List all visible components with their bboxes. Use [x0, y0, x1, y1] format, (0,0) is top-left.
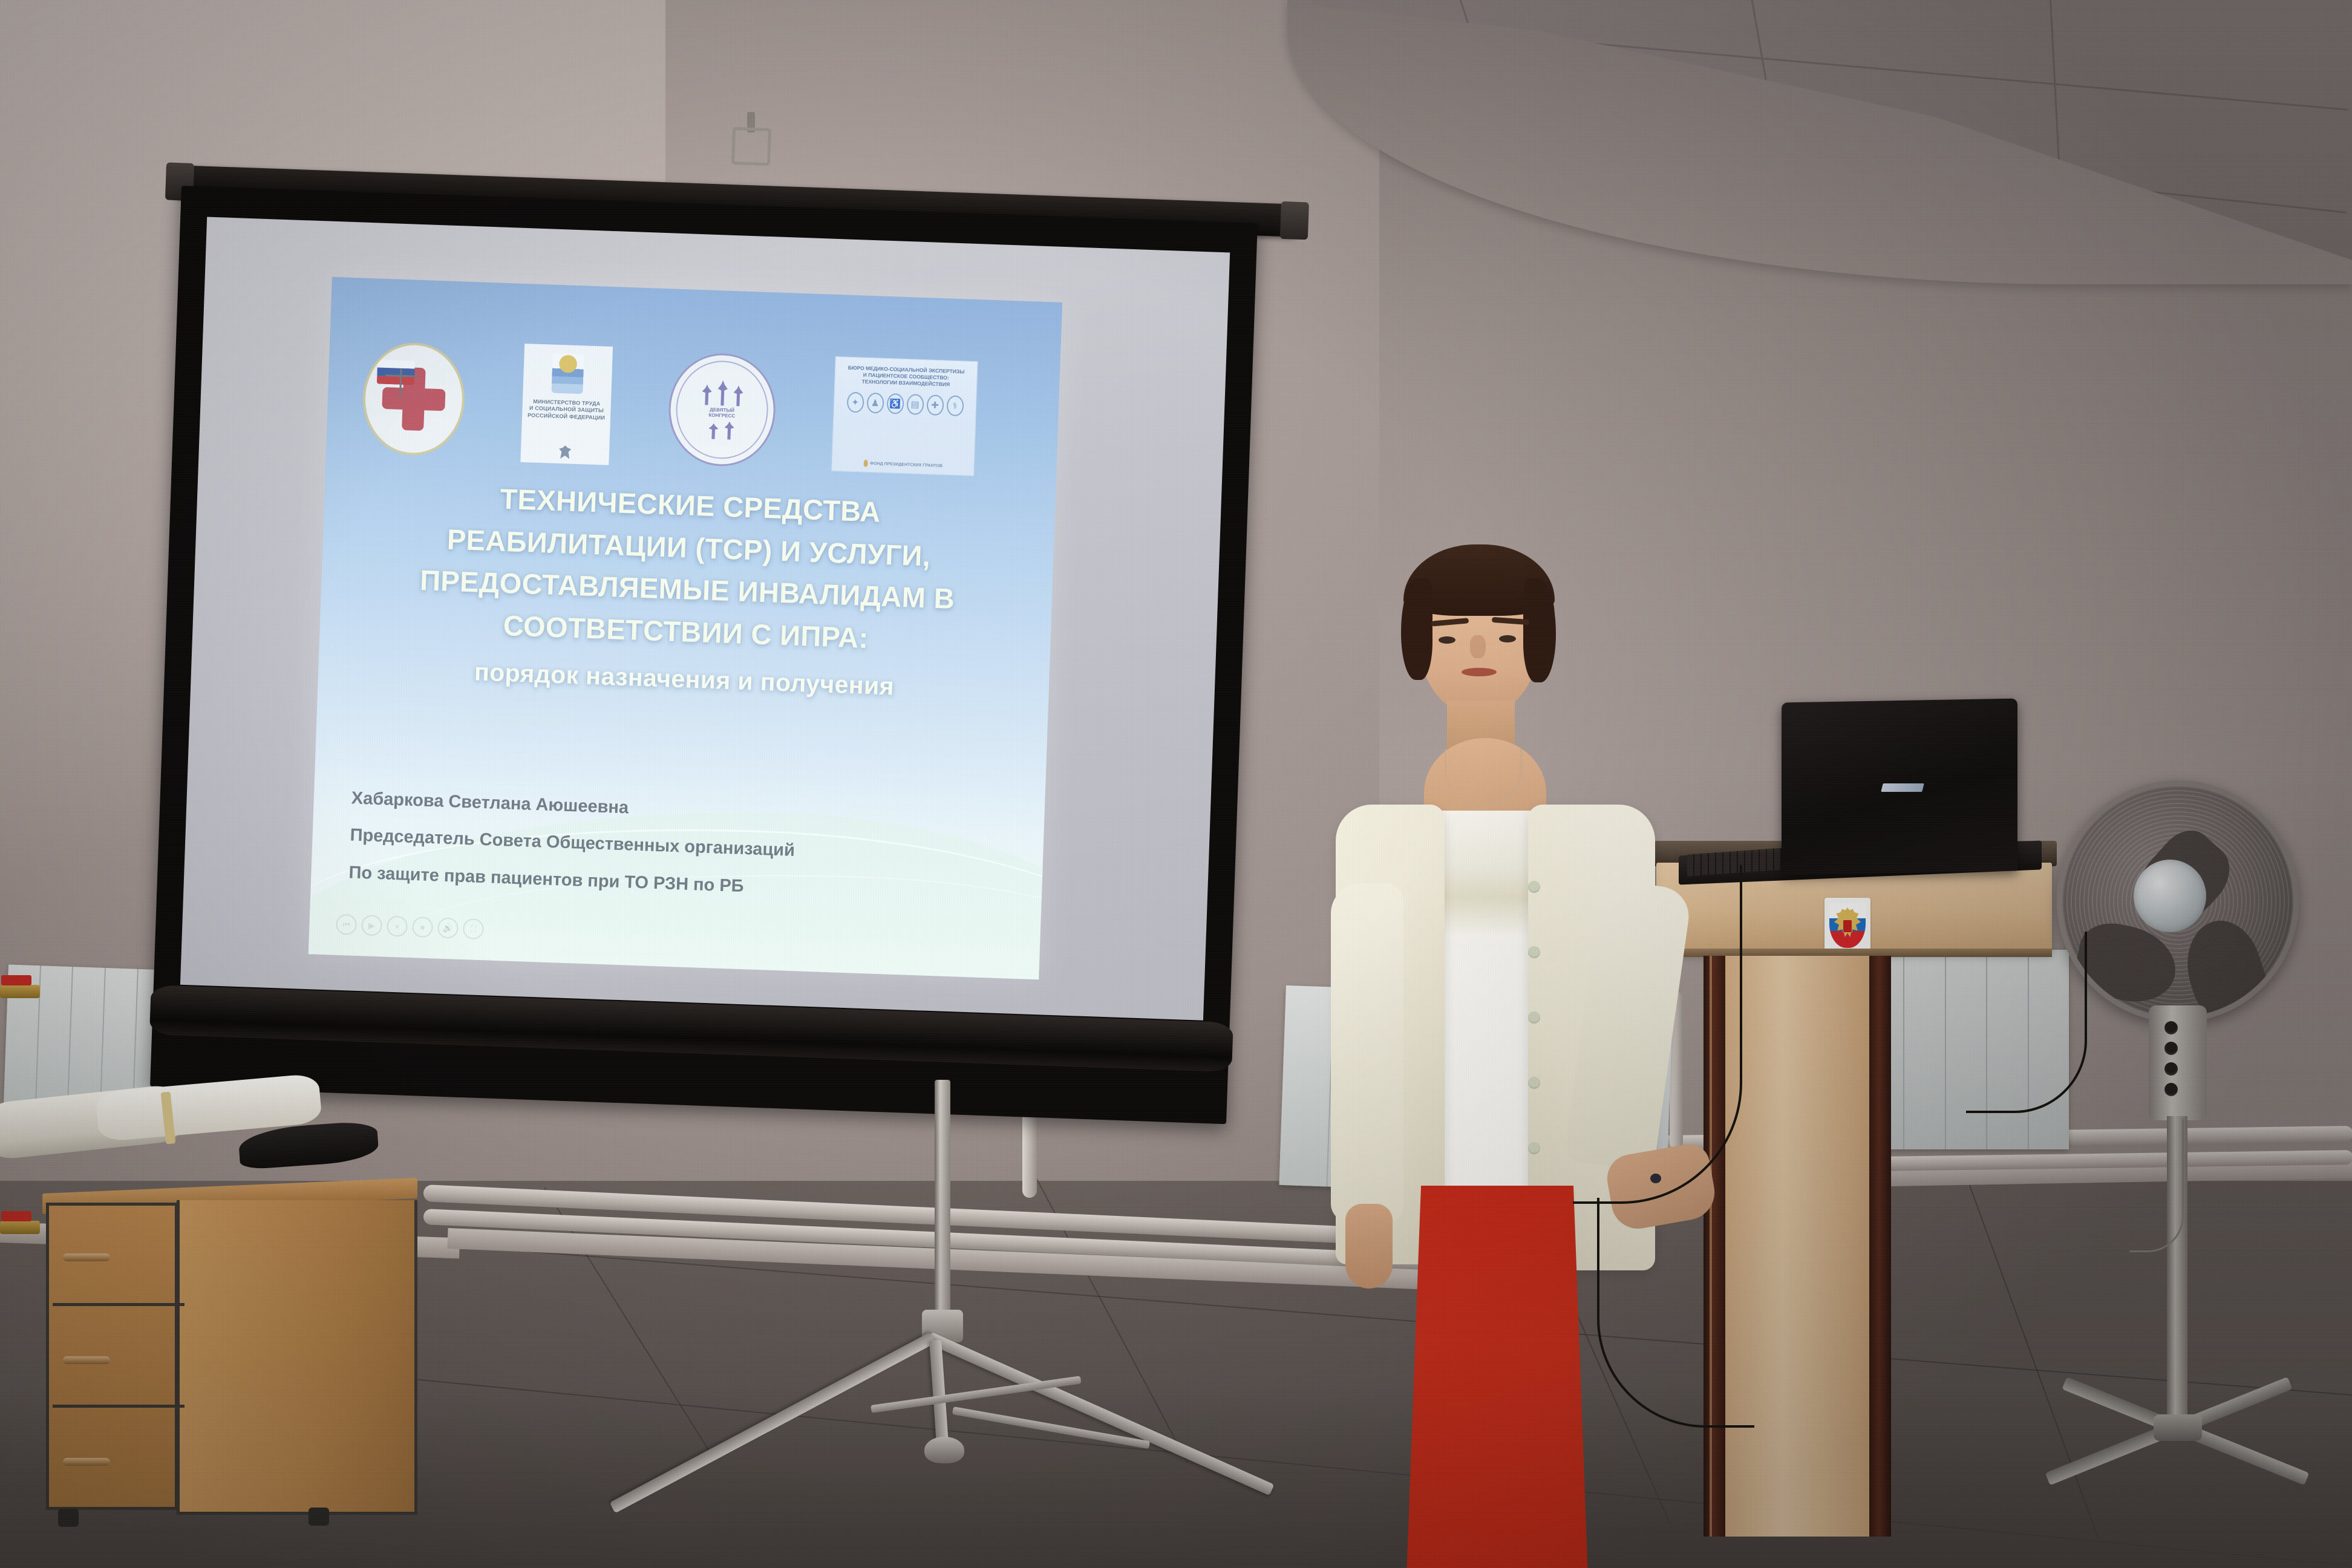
skirt	[1391, 1186, 1603, 1568]
drawer-handle[interactable]	[63, 1253, 110, 1261]
fan-control-neck[interactable]	[2149, 1005, 2207, 1120]
slide-logo-row: МИНИСТЕРСТВО ТРУДА И СОЦИАЛЬНОЙ ЗАЩИТЫ Р…	[361, 332, 1024, 486]
fan-base-hub	[2154, 1414, 2202, 1441]
conference-room-photo: МИНИСТЕРСТВО ТРУДА И СОЦИАЛЬНОЙ ЗАЩИТЫ Р…	[0, 0, 2352, 1568]
pause-icon[interactable]: ⏸	[387, 916, 408, 937]
laptop-brand-badge	[1881, 783, 1924, 792]
eye	[1439, 636, 1455, 644]
cabinet-caster	[309, 1508, 329, 1526]
cabinet-caster	[58, 1509, 79, 1527]
fan-power-cord	[2129, 1119, 2184, 1252]
screen-end-cap	[1280, 201, 1309, 240]
fan-speed-button[interactable]	[2164, 1021, 2178, 1034]
nose	[1470, 635, 1486, 658]
projection-screen: МИНИСТЕРСТВО ТРУДА И СОЦИАЛЬНОЙ ЗАЩИТЫ Р…	[175, 154, 1325, 1146]
cardigan-button	[1528, 1077, 1540, 1089]
drawer-cabinet[interactable]	[42, 1186, 417, 1524]
ministry-mark-icon	[551, 353, 584, 394]
left-hand	[1345, 1204, 1393, 1289]
stop-icon[interactable]: ⏹	[412, 916, 433, 938]
drawer-handle[interactable]	[63, 1458, 110, 1466]
drawer-handle[interactable]	[63, 1356, 110, 1364]
play-icon[interactable]: ▶	[361, 915, 382, 936]
wheelchair-icon: ♿	[886, 393, 904, 414]
fan-speed-button[interactable]	[2164, 1042, 2178, 1055]
cabinet-front-panel	[177, 1200, 417, 1515]
screen-surface: МИНИСТЕРСТВО ТРУДА И СОЦИАЛЬНОЙ ЗАЩИТЫ Р…	[180, 217, 1230, 1021]
mouth	[1462, 668, 1497, 676]
cardigan-button	[1528, 1142, 1540, 1154]
hair-side	[1401, 578, 1432, 680]
fan-speed-button[interactable]	[2164, 1062, 2178, 1076]
cardigan-button	[1528, 881, 1540, 893]
fan-power-button[interactable]	[2164, 1083, 2178, 1096]
radiator-valve-handle[interactable]	[1, 975, 31, 985]
cardigan-button	[1528, 946, 1540, 958]
projected-slide: МИНИСТЕРСТВО ТРУДА И СОЦИАЛЬНОЙ ЗАЩИТЫ Р…	[309, 277, 1062, 979]
radiator-valve[interactable]	[0, 985, 40, 998]
radiator-valve-handle[interactable]	[1, 1211, 31, 1221]
podium-column-right	[1869, 956, 1891, 1537]
volume-icon[interactable]: 🔊	[437, 918, 459, 939]
document-icon: ▤	[906, 394, 924, 415]
fbmse-seal-logo	[361, 341, 466, 457]
eagle-icon	[559, 445, 572, 459]
congress-seal-logo: ДЕВЯТЫЙ КОНГРЕСС	[667, 351, 777, 468]
power-cable	[1573, 865, 1742, 1204]
screen-hanger-bracket	[731, 127, 771, 166]
tripod-foot	[924, 1437, 964, 1463]
medical-cross-icon: ✚	[926, 394, 944, 416]
banner-footer-text: ФОНД ПРЕЗИДЕНТСКИХ ГРАНТОВ	[870, 462, 942, 468]
ministry-of-labour-logo: МИНИСТЕРСТВО ТРУДА И СОЦИАЛЬНОЙ ЗАЩИТЫ Р…	[520, 344, 613, 465]
fullscreen-icon[interactable]: ⛶	[463, 918, 484, 939]
tripod-pole	[935, 1080, 950, 1328]
blue-banner-logo: БЮРО МЕДИКО-СОЦИАЛЬНОЙ ЭКСПЕРТИЗЫ И ПАЦИ…	[831, 356, 978, 476]
fan-hub	[2134, 860, 2206, 932]
fan-cage	[2057, 780, 2299, 1022]
pedestal-fan[interactable]	[2057, 780, 2352, 1385]
power-cable	[1966, 932, 2087, 1113]
left-arm	[1331, 883, 1403, 1222]
people-icon: ♟	[866, 393, 884, 414]
radiator-valve[interactable]	[0, 1221, 40, 1234]
previous-icon[interactable]: ⏮	[336, 914, 357, 935]
slide-author-block: Хабаркова Светлана Аюшеевна Председатель…	[348, 780, 969, 913]
cardigan-button	[1528, 1011, 1540, 1024]
screen-frame: МИНИСТЕРСТВО ТРУДА И СОЦИАЛЬНОЙ ЗАЩИТЫ Р…	[150, 186, 1258, 1124]
russian-coat-of-arms-icon	[1824, 898, 1870, 953]
flame-icon	[863, 460, 867, 467]
slide-title: ТЕХНИЧЕСКИЕ СРЕДСТВА РЕАБИЛИТАЦИИ (ТСР) …	[354, 473, 1021, 710]
support-icon: ⚕	[946, 396, 964, 417]
eye	[1499, 635, 1516, 642]
accessibility-icon: ✦	[846, 392, 864, 413]
